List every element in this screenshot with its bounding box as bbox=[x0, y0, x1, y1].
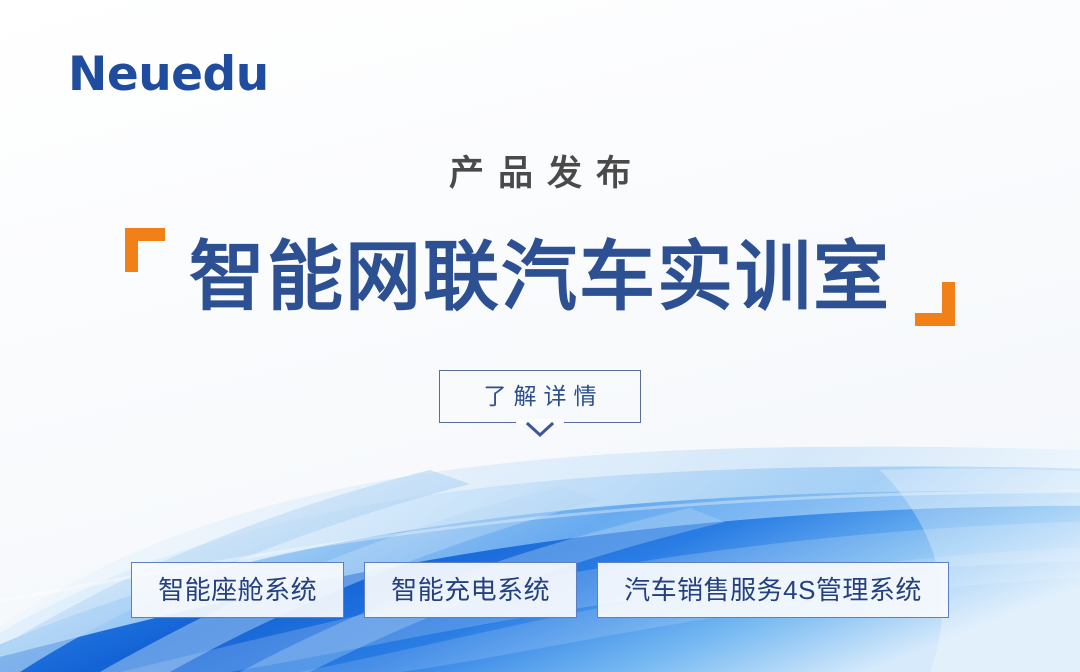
product-tag-1[interactable]: 智能座舱系统 bbox=[131, 562, 344, 618]
product-tag-3-label: 汽车销售服务4S管理系统 bbox=[624, 577, 922, 603]
chevron-down-icon bbox=[525, 421, 555, 439]
eyebrow-text: 产品发布 bbox=[0, 155, 1080, 194]
product-tag-2[interactable]: 智能充电系统 bbox=[364, 562, 577, 618]
product-tag-list: 智能座舱系统 智能充电系统 汽车销售服务4S管理系统 bbox=[0, 562, 1080, 618]
bracket-open-icon bbox=[125, 228, 165, 272]
page-title: 智能网联汽车实训室 bbox=[189, 240, 891, 316]
learn-more-label: 了解详情 bbox=[477, 385, 604, 408]
brand-logo[interactable]: Neuedu bbox=[68, 51, 269, 98]
product-tag-3[interactable]: 汽车销售服务4S管理系统 bbox=[597, 562, 949, 618]
headline-row: 智能网联汽车实训室 bbox=[0, 222, 1080, 334]
product-tag-2-label: 智能充电系统 bbox=[391, 577, 550, 603]
learn-more-button[interactable]: 了解详情 bbox=[439, 370, 641, 423]
bracket-close-icon bbox=[915, 282, 955, 326]
product-tag-1-label: 智能座舱系统 bbox=[158, 577, 317, 603]
cta-container: 了解详情 bbox=[0, 370, 1080, 423]
product-launch-banner: Neuedu 产品发布 智能网联汽车实训室 了解详情 智能座舱系统 智能充电系统… bbox=[0, 0, 1080, 672]
